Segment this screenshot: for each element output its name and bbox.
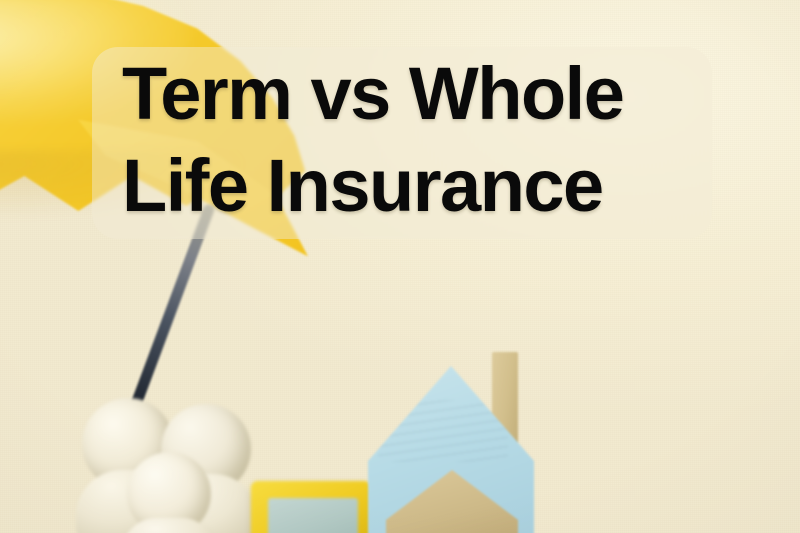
page-title: Term vs Whole Life Insurance [122,48,722,232]
image-canvas: Term vs Whole Life Insurance [0,0,800,533]
